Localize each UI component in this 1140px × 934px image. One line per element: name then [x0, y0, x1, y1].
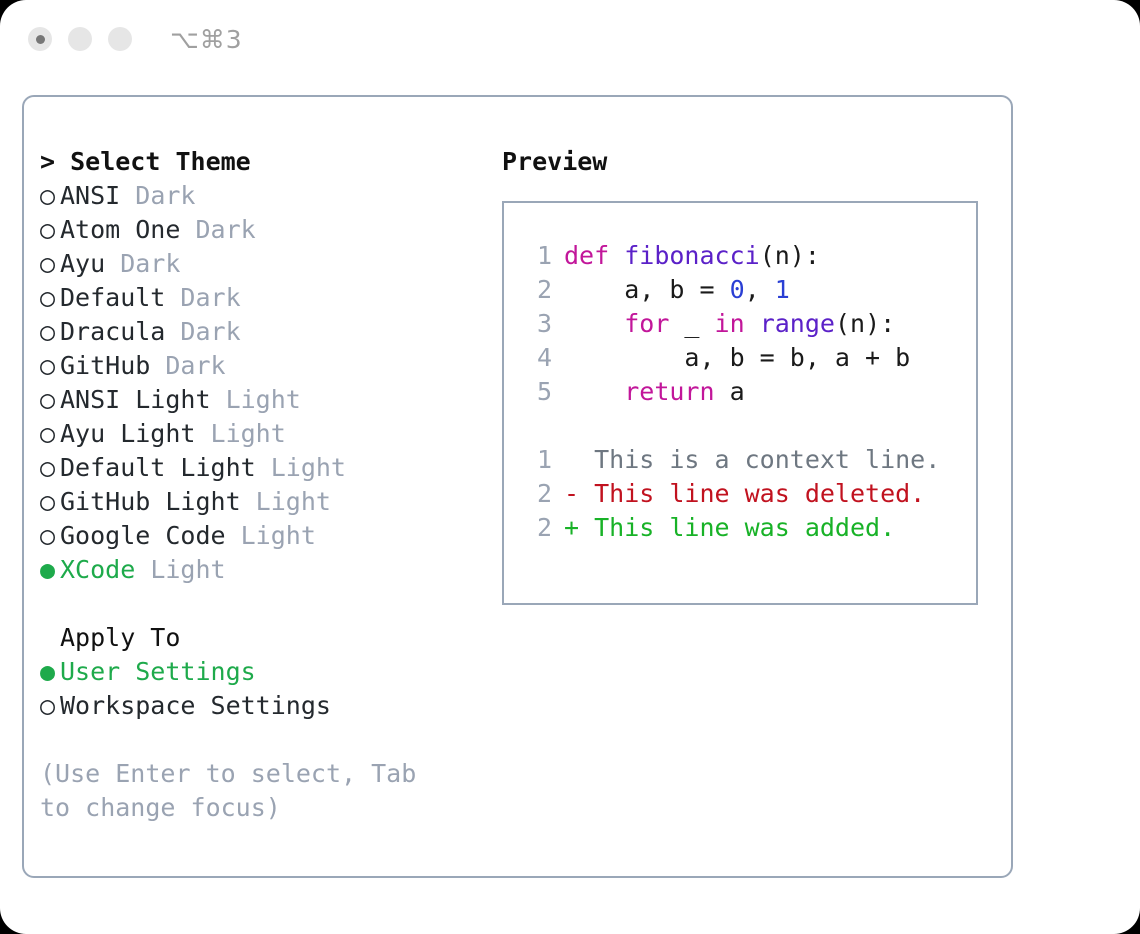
code-token: a, b = b, a + b	[564, 343, 910, 372]
theme-list-item[interactable]: ○Atom One Dark	[40, 213, 500, 247]
theme-list-item[interactable]: ○ANSI Dark	[40, 179, 500, 213]
preview-header: Preview	[502, 145, 1002, 179]
theme-name-label: Default	[60, 283, 165, 312]
diff-line-text: - This line was deleted.	[564, 479, 925, 508]
code-token: (n):	[760, 241, 820, 270]
theme-variant-label: Dark	[105, 249, 180, 278]
radio-unselected-icon: ○	[40, 213, 60, 247]
theme-list-item[interactable]: ○GitHub Light Light	[40, 485, 500, 519]
radio-unselected-icon: ○	[40, 315, 60, 349]
diff-line-text: + This line was added.	[564, 513, 895, 542]
theme-variant-label: Dark	[120, 181, 195, 210]
theme-variant-label: Dark	[165, 283, 240, 312]
radio-unselected-icon: ○	[40, 485, 60, 519]
theme-variant-label: Light	[211, 385, 301, 414]
theme-name-label: Google Code	[60, 521, 226, 550]
line-number: 4	[522, 341, 552, 375]
theme-name-label: ANSI	[60, 181, 120, 210]
theme-name-label: XCode	[60, 555, 135, 584]
keyboard-hint-text: (Use Enter to select, Tab to change focu…	[40, 757, 460, 825]
radio-unselected-icon: ○	[40, 383, 60, 417]
theme-name-label: GitHub	[60, 351, 150, 380]
theme-list-column: > Select Theme ○ANSI Dark○Atom One Dark○…	[40, 145, 500, 825]
theme-name-label: Dracula	[60, 317, 165, 346]
code-sample: 1def fibonacci(n):2 a, b = 0, 13 for _ i…	[522, 239, 976, 409]
theme-selector-panel: > Select Theme ○ANSI Dark○Atom One Dark○…	[22, 95, 1013, 878]
line-number: 1	[522, 239, 552, 273]
theme-list-item[interactable]: ○Ayu Light Light	[40, 417, 500, 451]
code-token: (n):	[835, 309, 895, 338]
theme-list-item[interactable]: ○Dracula Dark	[40, 315, 500, 349]
theme-list-item[interactable]: ○Ayu Dark	[40, 247, 500, 281]
code-diff-separator	[522, 409, 976, 443]
theme-variant-label: Dark	[180, 215, 255, 244]
code-line: 1def fibonacci(n):	[522, 239, 976, 273]
theme-variant-label: Light	[241, 487, 331, 516]
code-token: 1	[775, 275, 790, 304]
code-token: a, b =	[564, 275, 730, 304]
apply-to-header: Apply To	[40, 621, 500, 655]
line-number: 1	[522, 443, 552, 477]
close-dot[interactable]	[28, 27, 52, 51]
theme-variant-label: Light	[135, 555, 225, 584]
theme-list-item[interactable]: ●XCode Light	[40, 553, 500, 587]
theme-name-label: ANSI Light	[60, 385, 211, 414]
theme-list[interactable]: ○ANSI Dark○Atom One Dark○Ayu Dark○Defaul…	[40, 179, 500, 587]
code-token: 0	[730, 275, 745, 304]
diff-line: 1 This is a context line.	[522, 443, 976, 477]
radio-unselected-icon: ○	[40, 519, 60, 553]
app-window: ⌥⌘3 > Select Theme ○ANSI Dark○Atom One D…	[0, 0, 1140, 934]
hint-spacer	[40, 723, 500, 757]
code-token: for	[624, 309, 669, 338]
apply-to-option[interactable]: ●User Settings	[40, 655, 500, 689]
code-token: _	[669, 309, 714, 338]
theme-variant-label: Dark	[150, 351, 225, 380]
line-number: 5	[522, 375, 552, 409]
radio-unselected-icon: ○	[40, 179, 60, 213]
apply-to-option[interactable]: ○Workspace Settings	[40, 689, 500, 723]
preview-box: 1def fibonacci(n):2 a, b = 0, 13 for _ i…	[502, 201, 978, 605]
line-number: 2	[522, 273, 552, 307]
theme-list-item[interactable]: ○Default Light Light	[40, 451, 500, 485]
theme-list-item[interactable]: ○ANSI Light Light	[40, 383, 500, 417]
code-line: 2 a, b = 0, 1	[522, 273, 976, 307]
theme-name-label: Default Light	[60, 453, 256, 482]
apply-to-options[interactable]: ●User Settings○Workspace Settings	[40, 655, 500, 723]
code-line: 4 a, b = b, a + b	[522, 341, 976, 375]
theme-name-label: Atom One	[60, 215, 180, 244]
radio-selected-icon: ●	[40, 553, 60, 587]
diff-line: 2+ This line was added.	[522, 511, 976, 545]
minimize-dot[interactable]	[68, 27, 92, 51]
diff-sample: 1 This is a context line.2- This line wa…	[522, 443, 976, 545]
theme-name-label: Ayu Light	[60, 419, 195, 448]
theme-list-item[interactable]: ○GitHub Dark	[40, 349, 500, 383]
code-token	[564, 309, 624, 338]
code-line: 3 for _ in range(n):	[522, 307, 976, 341]
code-token: return	[624, 377, 714, 406]
code-token: fibonacci	[624, 241, 759, 270]
list-spacer	[40, 587, 500, 621]
line-number: 2	[522, 477, 552, 511]
theme-variant-label: Light	[256, 453, 346, 482]
code-line: 5 return a	[522, 375, 976, 409]
maximize-dot[interactable]	[108, 27, 132, 51]
radio-unselected-icon: ○	[40, 281, 60, 315]
radio-selected-icon: ●	[40, 655, 60, 689]
radio-unselected-icon: ○	[40, 689, 60, 723]
diff-line-text: This is a context line.	[564, 445, 940, 474]
theme-variant-label: Light	[226, 521, 316, 550]
apply-to-label: User Settings	[60, 657, 256, 686]
code-token: in	[715, 309, 745, 338]
code-token: range	[760, 309, 835, 338]
line-number: 3	[522, 307, 552, 341]
preview-column: Preview 1def fibonacci(n):2 a, b = 0, 13…	[502, 145, 1002, 605]
diff-line: 2- This line was deleted.	[522, 477, 976, 511]
radio-unselected-icon: ○	[40, 247, 60, 281]
select-theme-header: > Select Theme	[40, 145, 500, 179]
apply-to-label: Workspace Settings	[60, 691, 331, 720]
window-titlebar: ⌥⌘3	[0, 0, 1140, 78]
radio-unselected-icon: ○	[40, 417, 60, 451]
theme-name-label: GitHub Light	[60, 487, 241, 516]
keyboard-shortcut-label: ⌥⌘3	[170, 25, 243, 54]
code-token: ,	[745, 275, 775, 304]
theme-name-label: Ayu	[60, 249, 105, 278]
code-token: def	[564, 241, 624, 270]
code-token	[564, 377, 624, 406]
radio-unselected-icon: ○	[40, 451, 60, 485]
theme-variant-label: Light	[195, 419, 285, 448]
code-token: a	[715, 377, 745, 406]
code-token	[745, 309, 760, 338]
radio-unselected-icon: ○	[40, 349, 60, 383]
close-dot-inner	[36, 35, 45, 44]
theme-list-item[interactable]: ○Google Code Light	[40, 519, 500, 553]
line-number: 2	[522, 511, 552, 545]
theme-variant-label: Dark	[165, 317, 240, 346]
theme-list-item[interactable]: ○Default Dark	[40, 281, 500, 315]
